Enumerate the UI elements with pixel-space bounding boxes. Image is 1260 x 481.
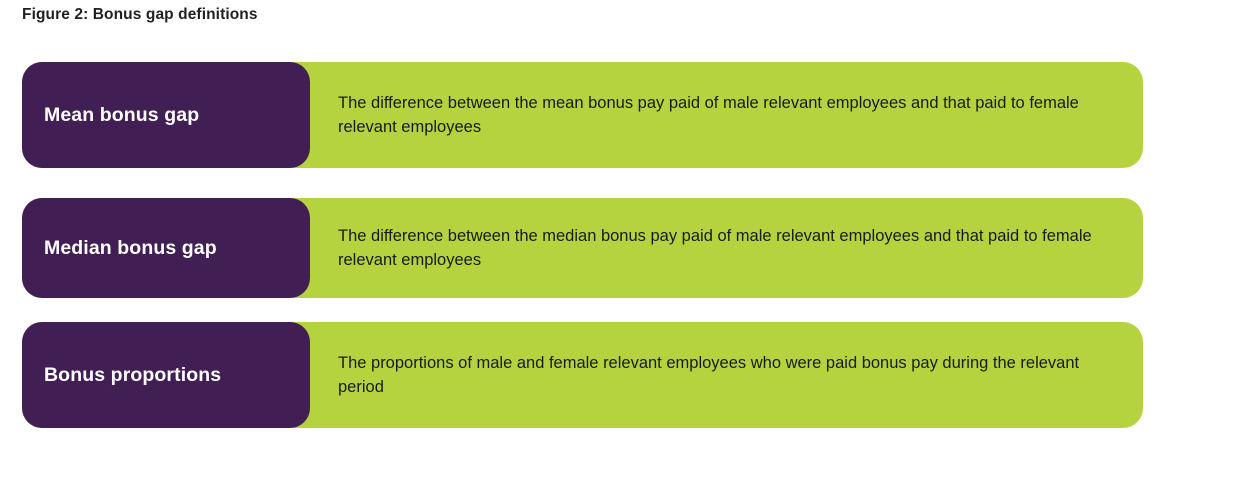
definition-label-text: Mean bonus gap: [22, 103, 209, 127]
definition-label-text: Bonus proportions: [22, 363, 231, 387]
definition-description-text: The difference between the median bonus …: [338, 224, 1115, 272]
definition-description-text: The difference between the mean bonus pa…: [338, 91, 1115, 139]
definition-row: The difference between the mean bonus pa…: [22, 62, 1143, 168]
figure-container: Figure 2: Bonus gap definitions The diff…: [0, 0, 1260, 481]
definition-row: The proportions of male and female relev…: [22, 322, 1143, 428]
figure-title: Figure 2: Bonus gap definitions: [22, 6, 258, 24]
definition-row: The difference between the median bonus …: [22, 198, 1143, 298]
definition-label-text: Median bonus gap: [22, 236, 227, 260]
definition-label-box: Median bonus gap: [22, 198, 310, 298]
definition-label-box: Mean bonus gap: [22, 62, 310, 168]
definition-label-box: Bonus proportions: [22, 322, 310, 428]
definition-description-text: The proportions of male and female relev…: [338, 351, 1115, 399]
